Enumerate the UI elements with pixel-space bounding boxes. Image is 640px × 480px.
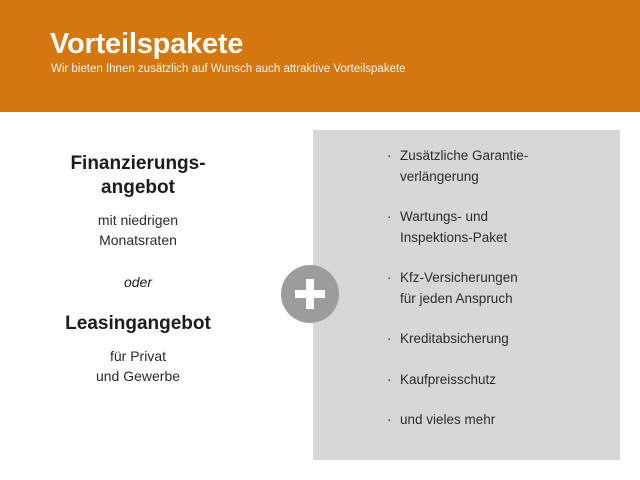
leasing-offer-heading: Leasingangebot (18, 312, 258, 336)
page-subtitle: Wir bieten Ihnen zusätzlich auf Wunsch a… (51, 63, 406, 77)
offer-divider: oder (18, 274, 258, 290)
list-item: · Kfz-Versicherungen für jeden Anspruch (387, 268, 602, 309)
bullet-icon: · (387, 207, 392, 228)
benefits-panel: · Zusätzliche Garantie- verlängerung · W… (313, 130, 620, 460)
bullet-icon: · (387, 268, 392, 289)
list-item: · Kreditabsicherung (387, 329, 602, 350)
benefits-list: · Zusätzliche Garantie- verlängerung · W… (387, 146, 602, 431)
bullet-icon: · (387, 370, 392, 391)
offer-divider-word: oder (124, 274, 152, 290)
list-item-line2: Inspektions-Paket (400, 228, 602, 249)
list-item: · und vieles mehr (387, 410, 602, 431)
list-item: · Kaufpreisschutz (387, 370, 602, 391)
bullet-icon: · (387, 146, 392, 167)
leasing-offer-subtext-line1: für Privat (110, 348, 166, 364)
financing-offer-heading-line1: Finanzierungs- (70, 153, 205, 174)
bullet-icon: · (387, 329, 392, 350)
list-item-line2: verlängerung (400, 167, 602, 188)
page-title: Vorteilspakete (50, 30, 243, 59)
list-item: · Wartungs- und Inspektions-Paket (387, 207, 602, 248)
financing-offer-heading: Finanzierungs- angebot (18, 152, 258, 201)
bullet-icon: · (387, 410, 392, 431)
financing-offer-heading-line2: angebot (101, 177, 175, 198)
offer-column: Finanzierungs- angebot mit niedrigen Mon… (18, 152, 258, 386)
leasing-offer-block: Leasingangebot für Privat und Gewerbe (18, 312, 258, 386)
plus-badge (281, 265, 339, 323)
financing-offer-subtext-line1: mit niedrigen (98, 212, 178, 228)
leasing-offer-subtext: für Privat und Gewerbe (18, 346, 258, 387)
financing-offer-block: Finanzierungs- angebot mit niedrigen Mon… (18, 152, 258, 250)
list-item-line1: Kreditabsicherung (400, 329, 602, 350)
list-item: · Zusätzliche Garantie- verlängerung (387, 146, 602, 187)
list-item-line1: und vieles mehr (400, 410, 602, 431)
list-item-line2: für jeden Anspruch (400, 289, 602, 310)
list-item-line1: Kfz-Versicherungen (400, 268, 602, 289)
list-item-line1: Zusätzliche Garantie- (400, 146, 602, 167)
list-item-line1: Kaufpreisschutz (400, 370, 602, 391)
plus-icon (281, 265, 339, 323)
financing-offer-subtext: mit niedrigen Monatsraten (18, 210, 258, 251)
financing-offer-subtext-line2: Monatsraten (99, 232, 177, 248)
plus-icon-vertical-bar (306, 279, 314, 309)
leasing-offer-subtext-line2: und Gewerbe (96, 368, 180, 384)
list-item-line1: Wartungs- und (400, 207, 602, 228)
header-band: Vorteilspakete Wir bieten Ihnen zusätzli… (0, 0, 640, 112)
